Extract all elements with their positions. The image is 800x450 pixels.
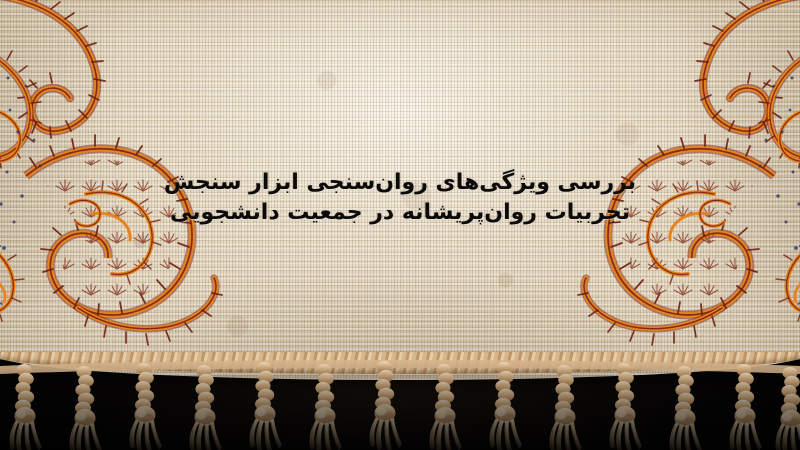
title-line-2: تجربیات روان‌پریشانه در جمعیت دانشجویی [150,198,650,228]
title-card-canvas: بررسی ویژگی‌های روان‌سنجی ابزار سنجش تجر… [0,0,800,450]
tassel-fringe [0,356,800,450]
title-line-1: بررسی ویژگی‌های روان‌سنجی ابزار سنجش [150,168,650,198]
page-title: بررسی ویژگی‌های روان‌سنجی ابزار سنجش تجر… [0,168,800,229]
